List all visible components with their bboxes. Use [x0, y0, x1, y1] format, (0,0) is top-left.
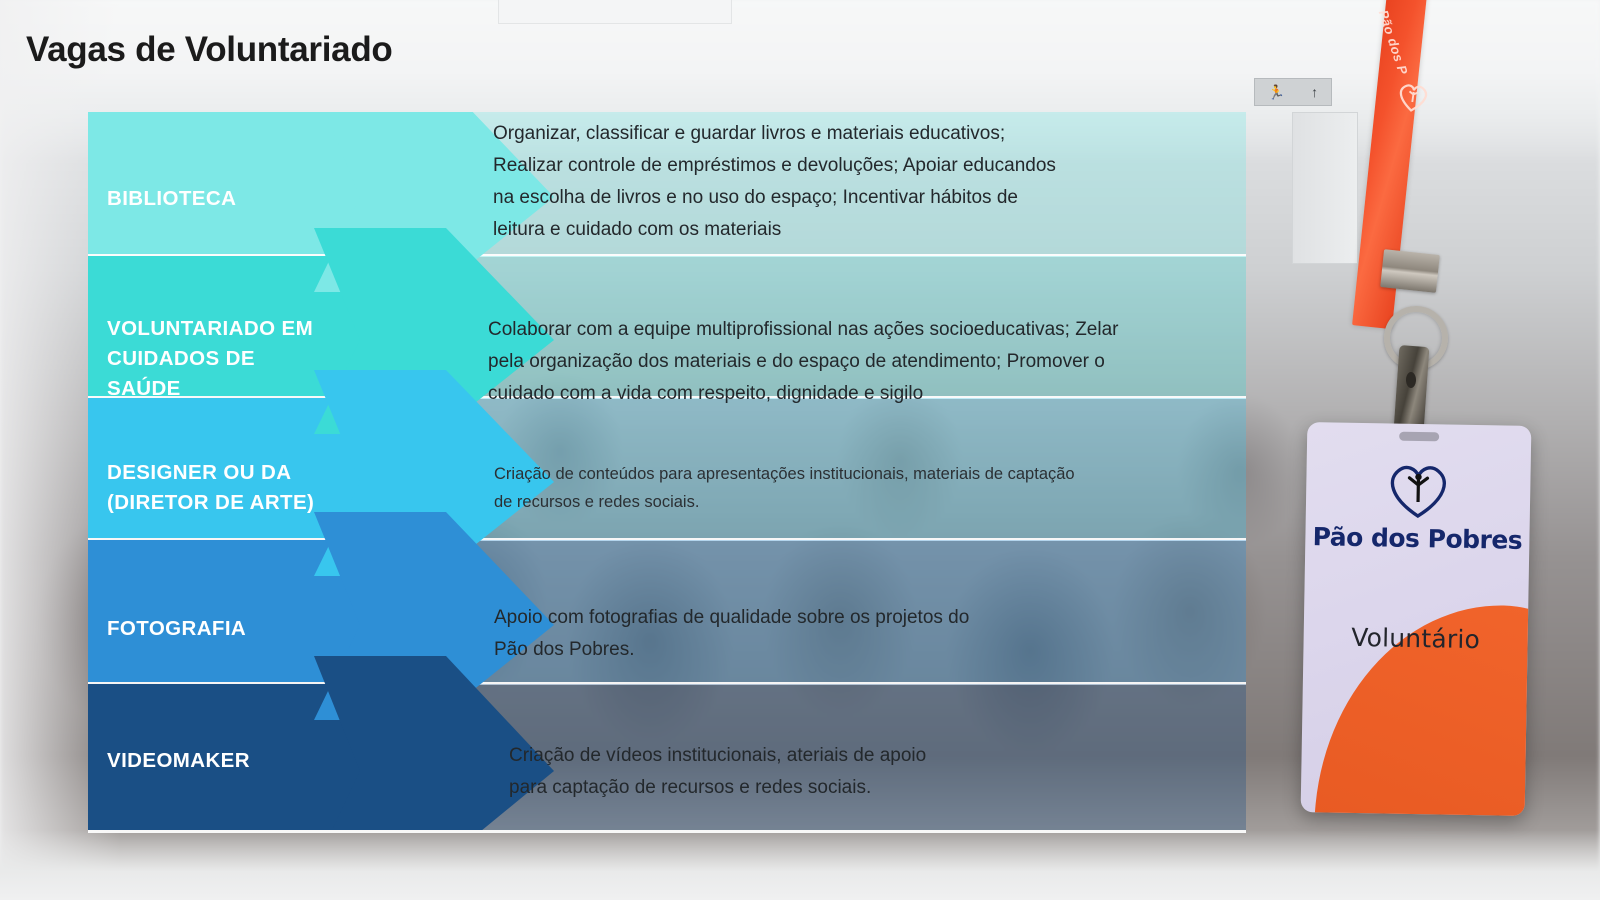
- lanyard-clasp: [1380, 249, 1440, 293]
- row-texts: BIBLIOTECAOrganizar, classificar e guard…: [88, 112, 1246, 830]
- role-label: FOTOGRAFIA: [107, 614, 246, 644]
- role-label: VIDEOMAKER: [107, 746, 250, 776]
- row-separator: [88, 830, 1246, 833]
- lanyard-photo: Pão dos P Pão dos Pobres Voluntário: [1360, 0, 1600, 874]
- page-title: Vagas de Voluntariado: [26, 30, 392, 70]
- badge-clip-hole: [1406, 372, 1416, 388]
- role-label: BIBLIOTECA: [107, 184, 236, 214]
- role-description: Organizar, classificar e guardar livros …: [493, 118, 1242, 246]
- role-label: DESIGNER OU DA (DIRETOR DE ARTE): [107, 458, 314, 518]
- up-arrow-icon: ↑: [1311, 85, 1318, 99]
- role-description: Criação de conteúdos para apresentações …: [494, 460, 1242, 516]
- volunteer-badge: Pão dos Pobres Voluntário: [1301, 422, 1532, 816]
- badge-organization-name: Pão dos Pobres: [1305, 522, 1529, 555]
- ceiling-panel: [498, 0, 732, 24]
- badge-role-text: Voluntário: [1303, 622, 1527, 655]
- role-description: Colaborar com a equipe multiprofissional…: [488, 314, 1242, 410]
- role-description: Apoio com fotografias de qualidade sobre…: [494, 602, 1242, 666]
- door-frame: [1292, 112, 1358, 264]
- role-label: VOLUNTARIADO EM CUIDADOS DE SAÚDE: [107, 314, 313, 404]
- badge-slot: [1399, 432, 1439, 442]
- role-description: Criação de vídeos institucionais, ateria…: [509, 740, 1242, 804]
- badge-logo: [1306, 456, 1531, 527]
- volunteer-roles-diagram: BIBLIOTECAOrganizar, classificar e guard…: [88, 112, 1246, 830]
- running-person-icon: 🏃: [1268, 85, 1285, 99]
- heart-person-icon: [1394, 78, 1432, 116]
- heart-person-logo-icon: [1382, 457, 1455, 520]
